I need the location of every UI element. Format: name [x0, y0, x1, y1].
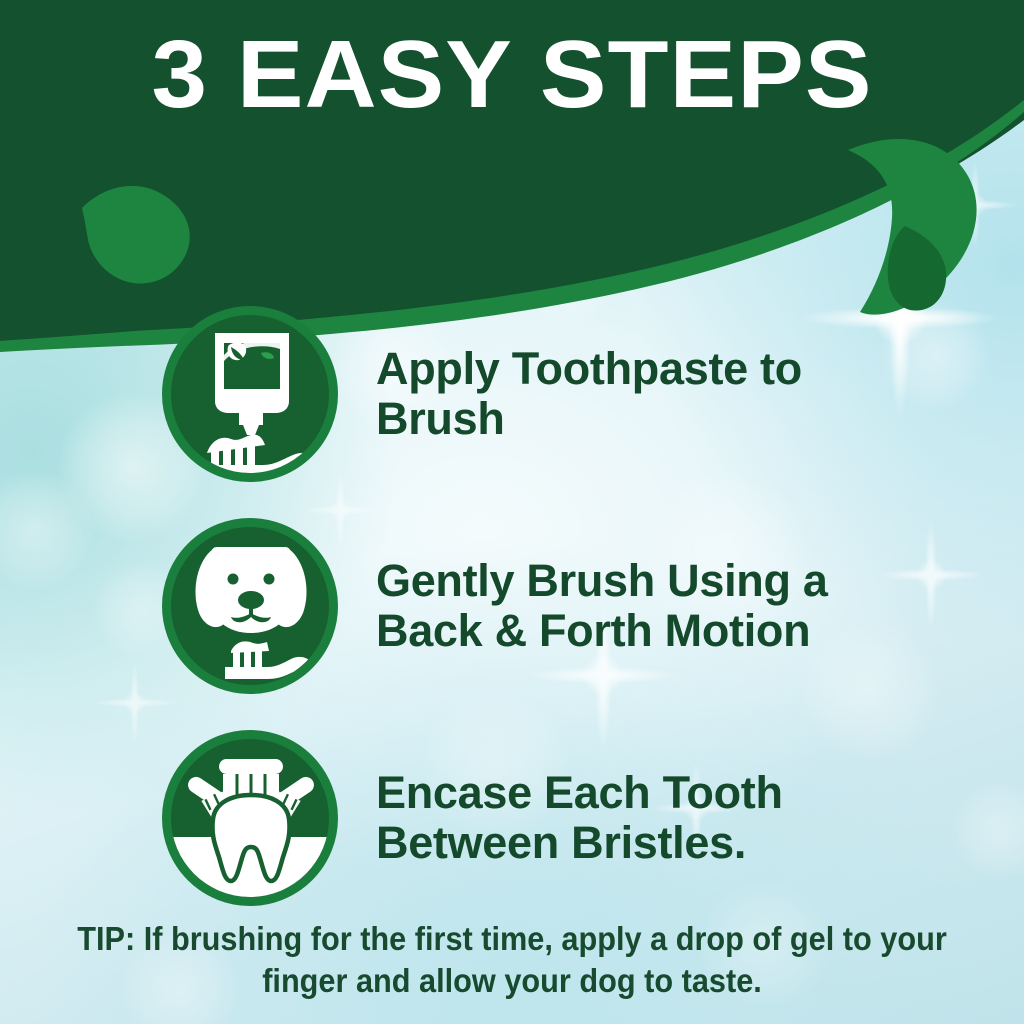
tip-text: TIP: If brushing for the first time, app… [36, 918, 988, 1001]
brush-handle [203, 453, 317, 475]
step-icon-container [150, 306, 350, 482]
dog-face-with-toothbrush-icon [162, 518, 338, 694]
step-item: Apply Toothpaste to Brush [0, 288, 1024, 500]
step-icon-container [150, 518, 350, 694]
bristle [211, 447, 219, 465]
step-label: Gently Brush Using a Back & Forth Motion [376, 556, 936, 657]
tooth-between-bristles-icon [162, 730, 338, 906]
dog-head [211, 547, 291, 633]
tube-neck [239, 411, 263, 425]
toothpaste-tube-on-brush-icon [162, 306, 338, 482]
step-label: Encase Each Tooth Between Bristles. [376, 768, 936, 869]
tube-nozzle [243, 425, 259, 435]
bristle [247, 445, 255, 465]
infographic-poster: 3 EASY STEPS [0, 0, 1024, 1024]
step-label: Apply Toothpaste to Brush [376, 344, 936, 445]
step-item: Encase Each Tooth Between Bristles. [0, 712, 1024, 924]
bristle [233, 651, 240, 667]
bristle [244, 651, 251, 667]
brush-top-handle [219, 759, 283, 774]
step-item: Gently Brush Using a Back & Forth Motion [0, 500, 1024, 712]
page-title: 3 EASY STEPS [0, 24, 1024, 126]
bristle [235, 444, 243, 465]
steps-list: Apply Toothpaste to Brush [0, 288, 1024, 924]
bristle [223, 445, 231, 465]
step-icon-container [150, 730, 350, 906]
dog-eye-right [264, 574, 275, 585]
dog-eye-left [228, 574, 239, 585]
bristle [255, 651, 262, 667]
